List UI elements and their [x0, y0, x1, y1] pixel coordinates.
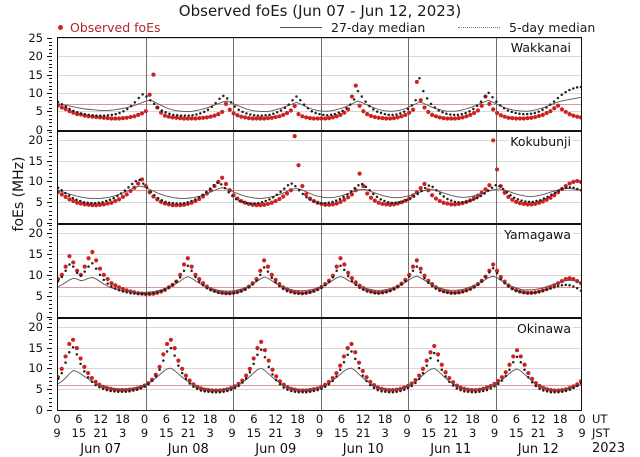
median5-point: [271, 277, 274, 280]
y-tick-minor: [49, 271, 52, 272]
legend-label-median5: 5-day median: [509, 20, 595, 35]
data-point: [499, 113, 503, 117]
median5-point: [264, 199, 267, 202]
median5-point: [407, 386, 410, 389]
x-tick-jst: 3: [294, 426, 301, 440]
y-tick-major: [47, 410, 52, 411]
y-tick-minor: [49, 100, 52, 101]
x-tick-jst: 15: [159, 426, 174, 440]
median5-point: [236, 291, 239, 294]
x-tick-ut: 0: [491, 412, 498, 426]
median5-point: [215, 390, 218, 393]
median5-point: [58, 101, 59, 104]
x-axis-year-label: 2023: [592, 441, 625, 456]
data-point: [350, 94, 354, 98]
median5-point: [134, 101, 137, 104]
median5-point: [117, 390, 120, 393]
median5-point: [260, 348, 263, 351]
data-point: [365, 112, 369, 116]
median5-point: [116, 194, 119, 197]
median5-point: [61, 103, 64, 106]
data-point: [254, 116, 258, 120]
data-point: [560, 107, 564, 111]
median5-point: [200, 389, 203, 392]
panel-yamagawa: Yamagawa: [57, 224, 582, 318]
median5-point: [357, 90, 360, 93]
median5-point: [180, 114, 183, 117]
median5-point: [395, 390, 398, 393]
median5-point: [168, 201, 171, 204]
median5-point: [331, 379, 334, 382]
data-point: [274, 374, 278, 378]
data-point: [262, 258, 266, 262]
data-point: [548, 109, 552, 113]
x-tick-ut: 12: [531, 412, 546, 426]
median5-point: [272, 113, 275, 116]
median5-point: [332, 276, 335, 279]
median5-point: [497, 382, 500, 385]
median5-point: [453, 114, 456, 117]
data-point: [335, 264, 339, 268]
median5-point: [135, 179, 138, 182]
median5-point: [373, 386, 376, 389]
median5-point: [465, 200, 468, 203]
median5-point: [279, 190, 282, 193]
data-point: [259, 339, 263, 343]
median5-point: [351, 280, 354, 283]
median5-point: [550, 193, 553, 196]
median5-point: [229, 292, 232, 295]
data-point: [90, 250, 94, 254]
median5-point: [157, 106, 160, 109]
median5-point: [201, 193, 204, 196]
median5-point: [480, 280, 483, 283]
data-point: [430, 193, 434, 197]
data-point: [438, 115, 442, 119]
data-point: [75, 200, 79, 204]
data-point: [564, 110, 568, 114]
y-tick-minor: [49, 71, 52, 72]
data-point: [205, 115, 209, 119]
median5-point: [350, 190, 353, 193]
median5-point: [422, 371, 425, 374]
median5-point: [534, 292, 537, 295]
median5-point: [561, 390, 564, 393]
median5-point: [157, 196, 160, 199]
x-tick-ut: 0: [228, 412, 235, 426]
y-tick-minor: [49, 194, 52, 195]
data-point: [529, 116, 533, 120]
x-tick-jst: 15: [72, 426, 87, 440]
data-point: [273, 115, 277, 119]
median5-point: [349, 103, 352, 106]
y-tick-minor: [49, 144, 52, 145]
median5-point: [328, 281, 331, 284]
median5-point: [246, 201, 249, 204]
data-point: [293, 104, 297, 108]
observed-dot-icon: [58, 25, 63, 30]
median5-point: [448, 380, 451, 383]
median5-point: [309, 291, 312, 294]
data-point: [556, 104, 560, 108]
y-tick-minor: [49, 352, 52, 353]
data-point: [144, 109, 148, 113]
median5-point: [253, 114, 256, 117]
median5-point: [224, 186, 227, 189]
median5-point: [430, 103, 433, 106]
median5-point: [313, 200, 316, 203]
x-tick-ut: 6: [338, 412, 345, 426]
median5-point: [297, 292, 300, 295]
median5-point: [496, 272, 499, 275]
median5-point: [226, 389, 229, 392]
median5-point: [68, 263, 71, 266]
median5-point: [188, 382, 191, 385]
median5-point: [190, 270, 193, 273]
y-tick-minor: [49, 206, 52, 207]
y-tick-minor: [49, 60, 52, 61]
x-tick-jst-final: 9: [578, 426, 585, 440]
median5-point: [428, 184, 431, 187]
median5-point: [114, 113, 117, 116]
median5-point: [121, 390, 124, 393]
y-tick-minor: [49, 215, 52, 216]
median5-point: [87, 265, 90, 268]
median5-point: [461, 291, 464, 294]
data-point: [243, 115, 247, 119]
median5-point: [138, 178, 141, 181]
median5-point: [276, 111, 279, 114]
median5-point: [461, 201, 464, 204]
x-tick-jst: 3: [469, 426, 476, 440]
median5-point: [225, 292, 228, 295]
median5-point: [136, 388, 139, 391]
median5-point: [95, 267, 98, 270]
median5-point: [149, 99, 152, 102]
median5-point: [290, 389, 293, 392]
data-point: [392, 116, 396, 120]
data-point: [526, 370, 530, 374]
median5-point: [526, 113, 529, 116]
median5-point: [140, 387, 143, 390]
median5-point: [546, 390, 549, 393]
median5-point: [553, 286, 556, 289]
median5-point: [232, 292, 235, 295]
data-point: [365, 191, 369, 195]
data-point: [228, 108, 232, 112]
legend-item-median27: 27-day median: [280, 19, 425, 35]
median5-point: [469, 288, 472, 291]
median5-point: [175, 280, 178, 283]
median5-point: [249, 113, 252, 116]
median5-point: [341, 110, 344, 113]
x-day-label: Jun 09: [255, 442, 296, 457]
data-point: [411, 264, 415, 268]
median5-point: [399, 389, 402, 392]
median5-point: [471, 390, 474, 393]
x-tick-ut: 12: [93, 412, 108, 426]
median5-point: [362, 374, 365, 377]
median5-point: [418, 77, 421, 80]
median5-point: [429, 356, 432, 359]
data-point: [487, 183, 491, 187]
median5-point: [441, 368, 444, 371]
median5-point: [294, 390, 297, 393]
median5-point: [513, 196, 516, 199]
data-point: [567, 181, 571, 185]
x-day-label: Jun 10: [343, 442, 384, 457]
y-tick-minor: [49, 89, 52, 90]
median5-point: [290, 182, 293, 185]
median5-point: [241, 111, 244, 114]
data-point: [507, 362, 511, 366]
median5-point: [307, 107, 310, 110]
data-point: [353, 350, 357, 354]
median5-point: [346, 193, 349, 196]
y-tick-label: 10: [28, 361, 43, 375]
median5-point: [535, 384, 538, 387]
median5-point: [384, 113, 387, 116]
median5-point: [318, 113, 321, 116]
median5-point: [358, 287, 361, 290]
median5-point: [419, 271, 422, 274]
data-point: [575, 178, 579, 182]
median5-point: [335, 199, 338, 202]
median5-point: [290, 291, 293, 294]
median5-point: [572, 386, 575, 389]
y-tick-minor: [49, 360, 52, 361]
data-point: [136, 181, 140, 185]
x-tick-ut: 12: [181, 412, 196, 426]
median5-point: [245, 112, 248, 115]
data-point: [491, 138, 495, 142]
median5-point: [568, 388, 571, 391]
data-point: [190, 264, 194, 268]
median5-point: [561, 93, 564, 96]
data-point: [457, 116, 461, 120]
median5-point: [122, 290, 125, 293]
median5-point: [499, 104, 502, 107]
data-point: [461, 115, 465, 119]
median5-point: [287, 103, 290, 106]
data-point: [503, 115, 507, 119]
median5-point: [68, 108, 71, 111]
y-tick-major: [47, 202, 52, 203]
median5-point: [376, 195, 379, 198]
median5-point: [60, 188, 63, 191]
median5-point: [94, 383, 97, 386]
median5-point: [181, 371, 184, 374]
y-tick-minor: [49, 82, 52, 83]
median5-point: [545, 289, 548, 292]
y-tick-minor: [49, 300, 52, 301]
data-point: [117, 197, 121, 201]
median5-point: [384, 390, 387, 393]
median5-point: [334, 113, 337, 116]
data-point: [60, 192, 64, 196]
median5-point: [380, 112, 383, 115]
median5-point: [366, 290, 369, 293]
median5-point: [523, 368, 526, 371]
median5-point: [557, 97, 560, 100]
median5-point: [411, 104, 414, 107]
median5-point: [564, 284, 567, 287]
data-point: [342, 262, 346, 266]
median5-point: [286, 388, 289, 391]
median5-point: [474, 390, 477, 393]
median5-point: [519, 291, 522, 294]
data-point: [64, 194, 68, 198]
data-point: [113, 116, 117, 120]
data-point: [186, 116, 190, 120]
y-tick-minor: [49, 132, 52, 133]
y-tick-minor: [49, 279, 52, 280]
data-point: [506, 116, 510, 120]
data-point: [419, 98, 423, 102]
data-point: [510, 116, 514, 120]
median5-point: [457, 114, 460, 117]
median5-point: [342, 195, 345, 198]
median5-point: [61, 371, 64, 374]
x-axis: 096151221183Jun 07096151221183Jun 080961…: [57, 412, 582, 457]
data-point: [247, 116, 251, 120]
median5-point: [324, 385, 327, 388]
y-tick-minor: [49, 323, 52, 324]
y-tick-minor: [49, 343, 52, 344]
data-point: [266, 116, 270, 120]
median5-point: [491, 186, 494, 189]
median5-point: [114, 287, 117, 290]
median5-point: [72, 110, 75, 113]
data-point: [443, 370, 447, 374]
x-tick-jst: 15: [247, 426, 262, 440]
median5-point: [164, 288, 167, 291]
median5-point: [79, 199, 82, 202]
median5-point: [370, 291, 373, 294]
data-point: [86, 370, 90, 374]
data-point: [267, 358, 271, 362]
median5-point: [234, 386, 237, 389]
median5-point: [84, 113, 87, 116]
median5-point: [213, 290, 216, 293]
median5-point: [426, 97, 429, 100]
median5-point: [538, 291, 541, 294]
data-point: [102, 273, 106, 277]
y-tick-label: 10: [28, 268, 43, 282]
data-point: [430, 113, 434, 117]
data-point: [440, 362, 444, 366]
data-point: [346, 271, 350, 275]
median5-point: [534, 112, 537, 115]
y-tick-minor: [49, 292, 52, 293]
data-point: [445, 201, 449, 205]
median5-point: [283, 187, 286, 190]
data-point: [109, 116, 113, 120]
median5-point: [539, 198, 542, 201]
data-point: [449, 116, 453, 120]
median5-point: [194, 276, 197, 279]
data-point: [190, 116, 194, 120]
median5-point: [230, 101, 233, 104]
x-tick-ut: 18: [203, 412, 218, 426]
data-point: [289, 108, 293, 112]
x-tick-ut: 0: [141, 412, 148, 426]
y-tick-label: 25: [28, 31, 43, 45]
median5-point: [437, 359, 440, 362]
data-point: [342, 197, 346, 201]
data-point: [571, 113, 575, 117]
data-point: [121, 116, 125, 120]
data-point: [285, 111, 289, 115]
median5-point: [467, 390, 470, 393]
panel-station-label: Wakkanai: [509, 40, 573, 55]
median5-point: [207, 108, 210, 111]
median5-point: [362, 289, 365, 292]
median5-point: [456, 387, 459, 390]
median5-point: [239, 199, 242, 202]
median5-point: [550, 390, 553, 393]
median5-point: [404, 280, 407, 283]
median5-point: [372, 192, 375, 195]
median5-point: [301, 292, 304, 295]
y-tick-label: 15: [28, 341, 43, 355]
median5-point: [439, 289, 442, 292]
median5-point: [106, 388, 109, 391]
data-point: [90, 375, 94, 379]
y-tick-major: [47, 317, 52, 318]
median5-point: [235, 197, 238, 200]
data-point: [522, 362, 526, 366]
data-point: [266, 264, 270, 268]
median5-point: [291, 99, 294, 102]
median5-point: [355, 284, 358, 287]
data-point: [422, 181, 426, 185]
median5-point: [76, 353, 79, 356]
y-tick-minor: [49, 398, 52, 399]
median5-point: [402, 200, 405, 203]
data-point: [136, 113, 140, 117]
x-tick-ut: 6: [163, 412, 170, 426]
data-point: [327, 116, 331, 120]
data-point: [403, 113, 407, 117]
median5-point: [218, 98, 221, 101]
median5-point: [227, 191, 230, 194]
median5-point: [520, 199, 523, 202]
data-point: [244, 373, 248, 377]
legend-label-median27: 27-day median: [331, 20, 425, 35]
median5-point: [276, 193, 279, 196]
median5-point: [343, 361, 346, 364]
y-tick-minor: [49, 49, 52, 50]
median5-point: [403, 388, 406, 391]
data-point: [519, 354, 523, 358]
median5-point: [272, 196, 275, 199]
median5-point: [64, 191, 67, 194]
y-tick-label: 15: [28, 154, 43, 168]
median5-point: [472, 198, 475, 201]
y-tick-label: 5: [36, 104, 43, 118]
panel-station-label: Kokubunji: [508, 134, 573, 149]
median5-point: [476, 196, 479, 199]
y-tick-minor: [49, 119, 52, 120]
median5-point: [368, 105, 371, 108]
median5-point: [580, 289, 581, 292]
median5-point: [516, 355, 519, 358]
median5-point: [425, 364, 428, 367]
data-point: [548, 195, 552, 199]
median5-point: [251, 283, 254, 286]
median5-point: [98, 201, 101, 204]
